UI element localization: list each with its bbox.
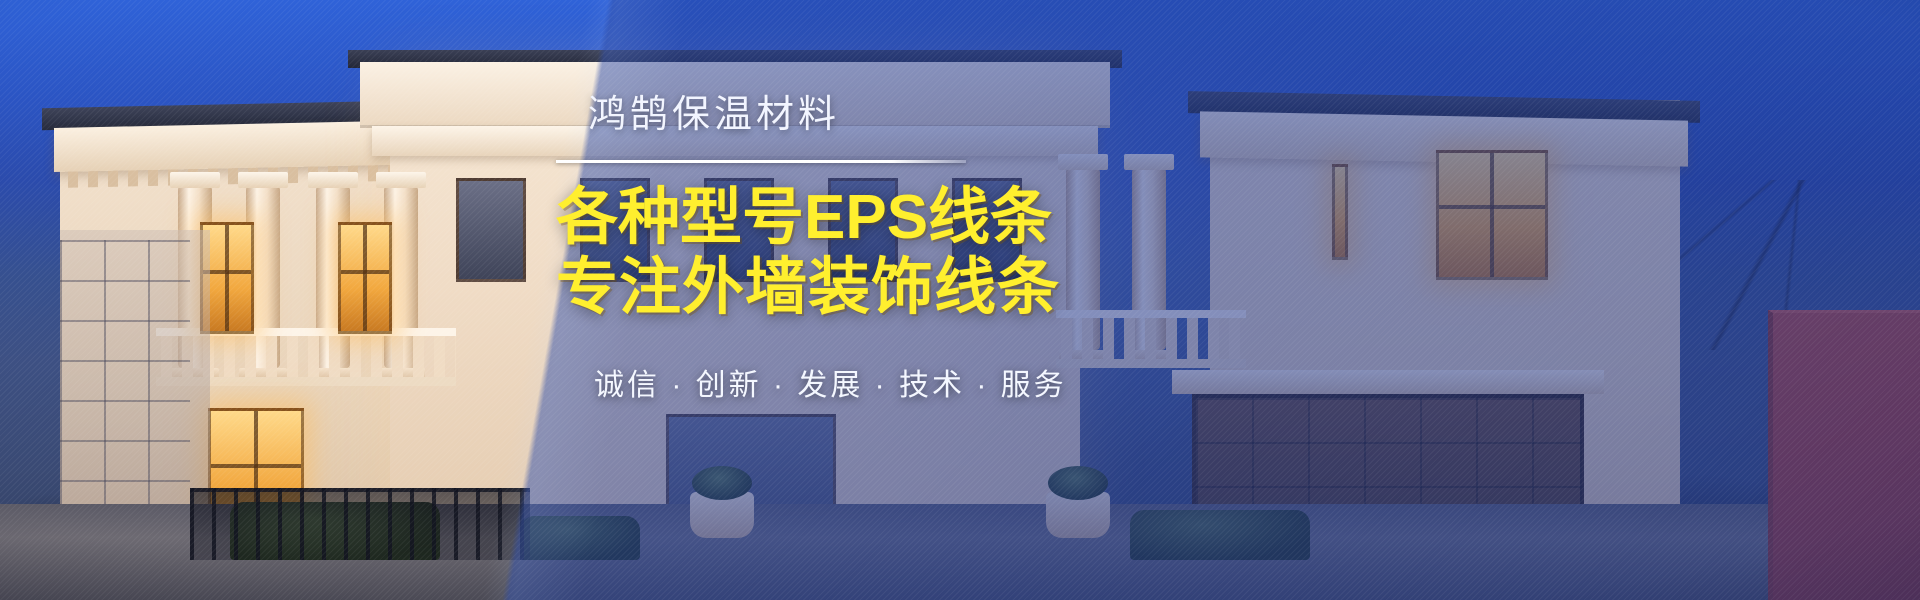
hero-banner: 鸿鹄保温材料 各种型号EPS线条 专注外墙装饰线条 诚信 · 创新 · 发展 ·…: [0, 0, 1920, 600]
headline: 各种型号EPS线条 专注外墙装饰线条: [556, 183, 1196, 322]
headline-line-1: 各种型号EPS线条: [556, 183, 1196, 252]
headline-line-2: 专注外墙装饰线条: [556, 253, 1196, 322]
brand-name: 鸿鹄保温材料: [588, 92, 1196, 138]
tagline: 诚信 · 创新 · 发展 · 技术 · 服务: [594, 360, 1196, 404]
banner-copy: 鸿鹄保温材料 各种型号EPS线条 专注外墙装饰线条 诚信 · 创新 · 发展 ·…: [556, 92, 1196, 404]
divider-rule: [556, 160, 966, 163]
